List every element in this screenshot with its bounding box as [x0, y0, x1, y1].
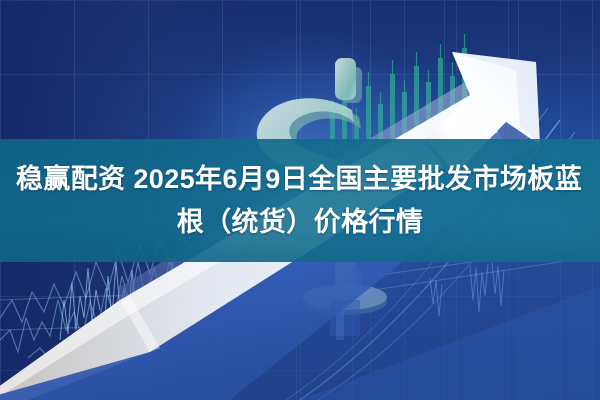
finance-news-banner: 稳赢配资 2025年6月9日全国主要批发市场板蓝 根（统货）价格行情	[0, 0, 600, 400]
page-title: 稳赢配资 2025年6月9日全国主要批发市场板蓝 根（统货）价格行情	[0, 139, 600, 262]
headline-line-1: 稳赢配资 2025年6月9日全国主要批发市场板蓝	[16, 158, 582, 201]
headline-line-2: 根（统货）价格行情	[177, 201, 424, 244]
